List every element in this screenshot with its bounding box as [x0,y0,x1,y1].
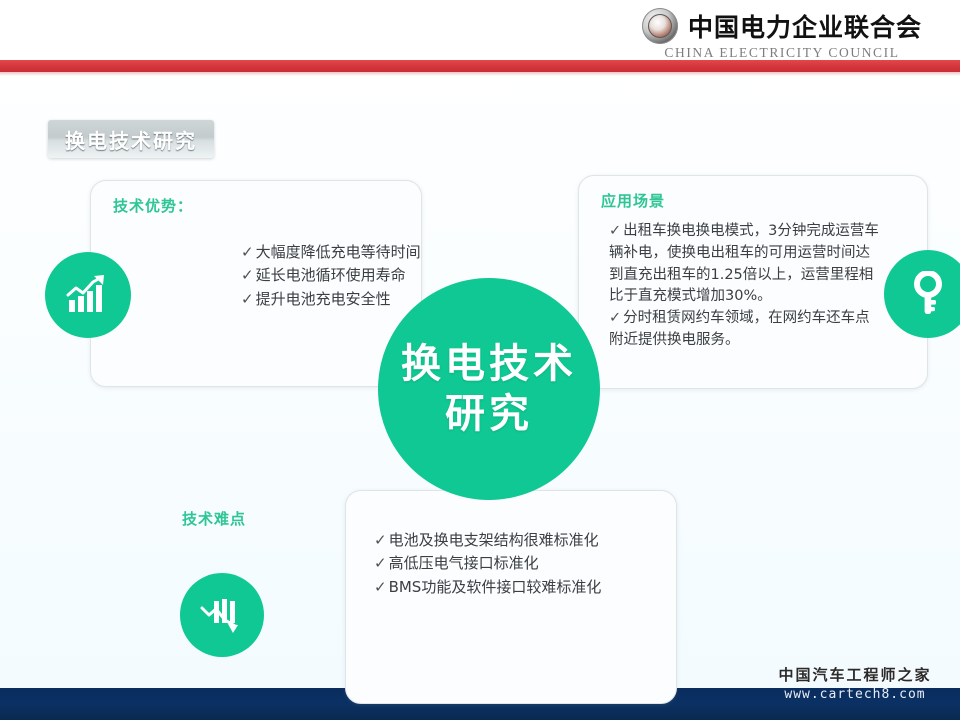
panel-advantage-title: 技术优势： [113,195,193,216]
list-item-text: 分时租赁网约车领域，在网约车还车点附近提供换电服务。 [609,310,870,348]
header-red-rule [0,60,960,72]
check-icon: ✓ [609,223,621,239]
list-item: ✓BMS功能及软件接口较难标准化 [374,576,654,599]
list-item: ✓大幅度降低充电等待时间 [241,241,511,264]
watermark-cn: 中国汽车工程师之家 [760,664,950,685]
list-item: ✓高低压电气接口标准化 [374,552,654,575]
center-topic-line2: 研究 [445,389,533,439]
slide-header: 中国电力企业联合会 CHINA ELECTRICITY COUNCIL [0,0,960,60]
list-item: ✓出租车换电换电模式，3分钟完成运营车辆补电，使换电出租车的可用运营时间达到直充… [609,221,879,308]
list-item-text: 电池及换电支架结构很难标准化 [389,531,599,549]
center-topic-circle: 换电技术 研究 [378,278,600,500]
list-item-text: 延长电池循环使用寿命 [256,266,406,284]
check-icon: ✓ [241,266,254,284]
panel-technical-advantage: 技术优势： ✓大幅度降低充电等待时间 ✓延长电池循环使用寿命 ✓提升电池充电安全… [90,180,422,387]
growth-chart-icon [45,252,131,338]
panel-difficulty-body: ✓电池及换电支架结构很难标准化 ✓高低压电气接口标准化 ✓BMS功能及软件接口较… [374,529,654,599]
list-item-text: 高低压电气接口标准化 [389,554,539,572]
org-name-cn: 中国电力企业联合会 [688,8,922,44]
check-icon: ✓ [374,554,387,572]
logo-row: 中国电力企业联合会 [642,8,922,44]
list-item-text: 大幅度降低充电等待时间 [256,243,421,261]
panel-technical-difficulty: ✓电池及换电支架结构很难标准化 ✓高低压电气接口标准化 ✓BMS功能及软件接口较… [345,490,677,704]
list-item: ✓分时租赁网约车领域，在网约车还车点附近提供换电服务。 [609,308,879,352]
check-icon: ✓ [374,531,387,549]
check-icon: ✓ [609,310,621,326]
panel-scenario-title: 应用场景 [601,190,665,211]
page-title-label: 换电技术研究 [65,125,197,154]
decline-chart-icon [180,573,264,657]
check-icon: ✓ [241,290,254,308]
list-item-text: 出租车换电换电模式，3分钟完成运营车辆补电，使换电出租车的可用运营时间达到直充出… [609,223,879,304]
page-title: 换电技术研究 [48,120,214,158]
header-red-rule-shadow [0,72,960,76]
cec-emblem-icon [642,8,678,44]
check-icon: ✓ [241,243,254,261]
panel-application-scenario: 应用场景 ✓出租车换电换电模式，3分钟完成运营车辆补电，使换电出租车的可用运营时… [578,175,928,389]
slide-canvas: 中国电力企业联合会 CHINA ELECTRICITY COUNCIL 换电技术… [0,0,960,720]
check-icon: ✓ [374,578,387,596]
org-logo: 中国电力企业联合会 CHINA ELECTRICITY COUNCIL [642,8,922,61]
org-name-en: CHINA ELECTRICITY COUNCIL [664,45,899,61]
list-item: ✓电池及换电支架结构很难标准化 [374,529,654,552]
list-item-text: BMS功能及软件接口较难标准化 [389,578,602,596]
panel-difficulty-title: 技术难点 [182,508,246,529]
panel-scenario-body: ✓出租车换电换电模式，3分钟完成运营车辆补电，使换电出租车的可用运营时间达到直充… [609,221,879,352]
list-item-text: 提升电池充电安全性 [256,290,391,308]
center-topic-line1: 换电技术 [401,339,577,389]
